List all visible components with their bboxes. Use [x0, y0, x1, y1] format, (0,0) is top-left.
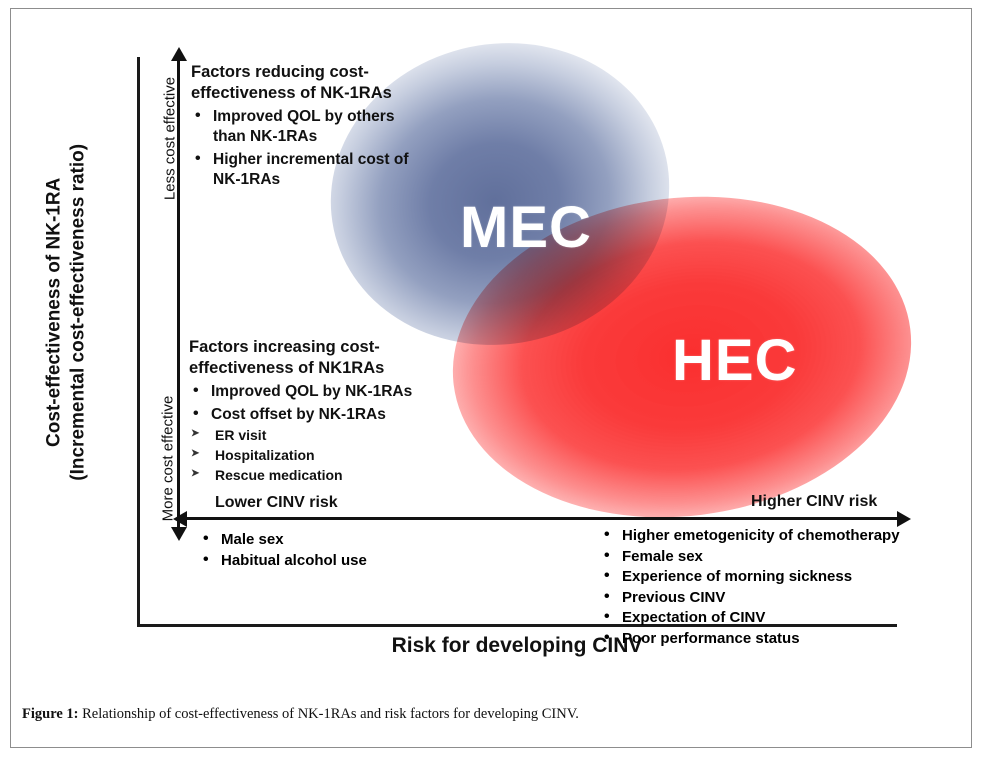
list-item: Female sex [600, 547, 930, 567]
risk-factors-higher-list: Higher emetogenicity of chemotherapy Fem… [600, 524, 930, 648]
y-axis-top-label: Less cost effective [162, 64, 179, 214]
figure-caption-text: Relationship of cost-effectiveness of NK… [79, 706, 579, 722]
list-item: Cost offset by NK-1RAs [189, 405, 449, 425]
list-item: Hospitalization [189, 446, 449, 465]
figure-caption: Figure 1: Relationship of cost-effective… [22, 706, 952, 723]
figure-caption-label: Figure 1: [22, 706, 79, 722]
annotation-increasing-heading: Factors increasing cost- effectiveness o… [189, 337, 449, 379]
annotation-reducing-bullets: Improved QOL by others than NK-1RAs High… [191, 107, 441, 191]
x-axis-right-label: Higher CINV risk [751, 493, 877, 511]
plot-y-axis-line [137, 57, 140, 627]
annotation-reducing-heading: Factors reducing cost- effectiveness of … [191, 62, 441, 104]
region-label-hec: HEC [672, 332, 797, 390]
list-item: ER visit [189, 426, 449, 445]
list-item: Previous CINV [600, 588, 930, 608]
list-item: Habitual alcohol use [199, 551, 479, 571]
x-axis-left-label: Lower CINV risk [215, 494, 338, 512]
list-item: Improved QOL by NK-1RAs [189, 382, 449, 402]
list-item: Higher incremental cost of NK-1RAs [191, 150, 441, 190]
region-label-mec: MEC [460, 199, 592, 257]
list-item: Expectation of CINV [600, 608, 930, 628]
annotation-factors-increasing: Factors increasing cost- effectiveness o… [189, 337, 449, 485]
y-axis-title-line-1: Cost-effectiveness of NK-1RA [43, 77, 67, 547]
cinv-risk-double-arrow [186, 517, 898, 520]
annotation-increasing-sub-bullets: ER visit Hospitalization Rescue medicati… [189, 426, 449, 485]
annotation-factors-reducing: Factors reducing cost- effectiveness of … [191, 62, 441, 190]
list-item: Higher emetogenicity of chemotherapy [600, 526, 930, 546]
y-axis-title: Cost-effectiveness of NK-1RA (Incrementa… [43, 77, 92, 547]
annotation-increasing-bullets: Improved QOL by NK-1RAs Cost offset by N… [189, 382, 449, 425]
list-item: Improved QOL by others than NK-1RAs [191, 107, 441, 147]
figure-1-container: MEC HEC Cost-effectiveness of NK-1RA (In… [0, 0, 989, 757]
list-item: Poor performance status [600, 629, 930, 649]
list-item: Rescue medication [189, 466, 449, 485]
list-item: Male sex [199, 530, 479, 550]
list-item: Experience of morning sickness [600, 567, 930, 587]
y-axis-title-line-2: (Incremental cost-effectiveness ratio) [67, 77, 91, 547]
risk-factors-lower-list: Male sex Habitual alcohol use [199, 528, 479, 570]
